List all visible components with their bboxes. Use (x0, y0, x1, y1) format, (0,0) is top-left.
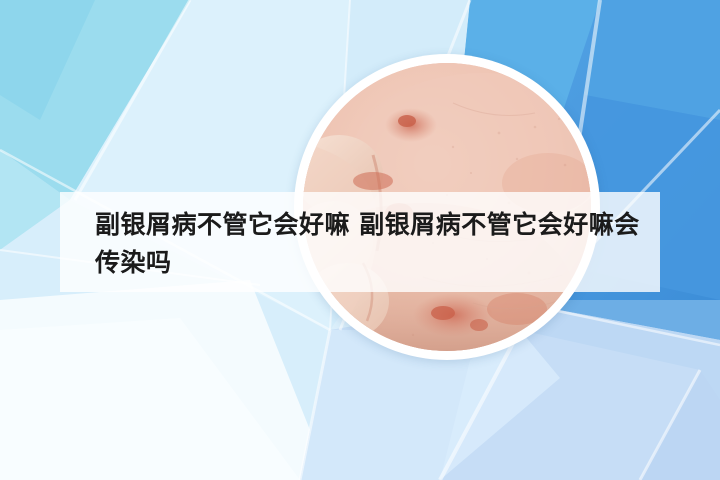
page-title: 副银屑病不管它会好嘛 副银屑病不管它会好嘛会传染吗 (95, 206, 640, 282)
banner-image: 副银屑病不管它会好嘛 副银屑病不管它会好嘛会传染吗 (0, 0, 720, 480)
